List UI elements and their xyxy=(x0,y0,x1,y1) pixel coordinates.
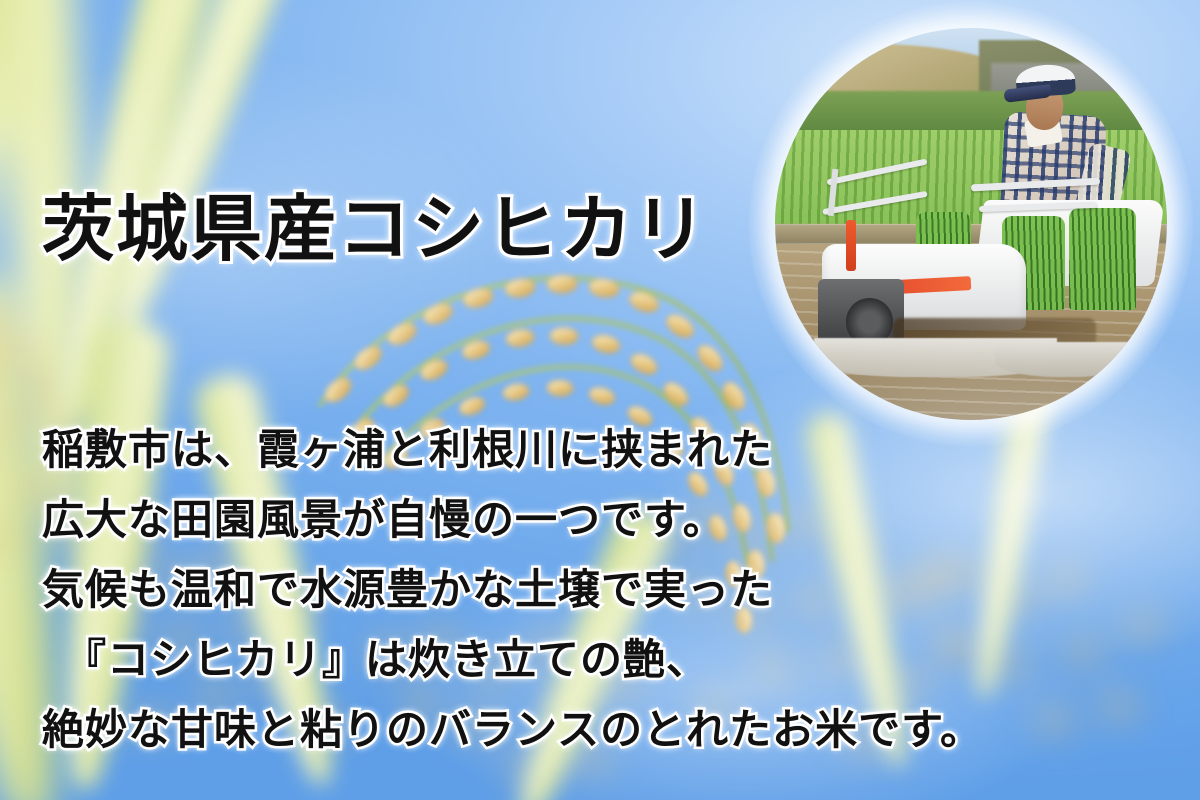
description-line-5: 絶妙な甘味と粘りのバランスのとれたお米です。 xyxy=(42,696,983,766)
description-line-1: 稲敷市は、霞ヶ浦と利根川に挟まれた xyxy=(42,416,983,486)
rice-promo-poster: 茨城県産コシヒカリ 稲敷市は、霞ヶ浦と利根川に挟まれた 広大な田園風景が自慢の一… xyxy=(0,0,1200,800)
description-text: 稲敷市は、霞ヶ浦と利根川に挟まれた 広大な田園風景が自慢の一つです。 気候も温和… xyxy=(42,416,983,766)
page-title: 茨城県産コシヒカリ xyxy=(42,194,708,266)
description-line-3: 気候も温和で水源豊かな土壌で実った xyxy=(42,556,983,626)
description-line-4: 『コシヒカリ』は炊き立ての艶、 xyxy=(42,626,983,696)
description-line-2: 広大な田園風景が自慢の一つです。 xyxy=(42,486,983,556)
